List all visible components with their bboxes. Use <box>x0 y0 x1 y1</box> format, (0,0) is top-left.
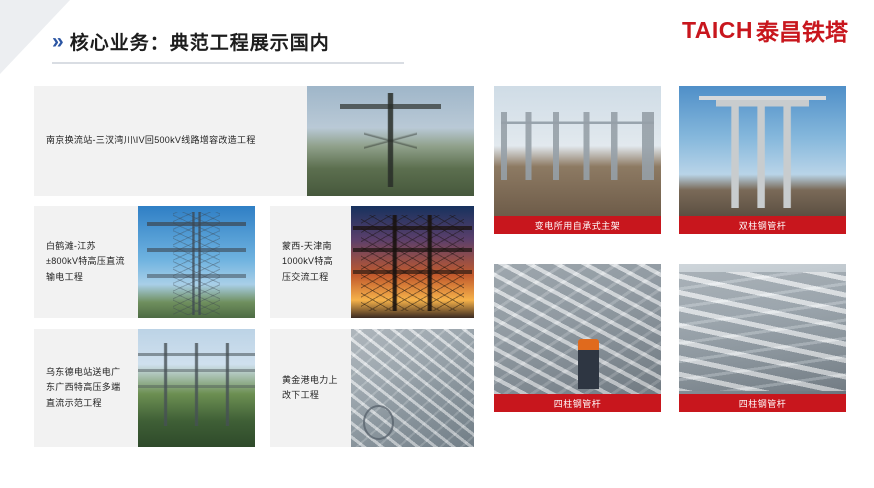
project-caption-box-5: 黄金港电力上改下工程 <box>270 329 351 447</box>
project-caption-3: 蒙西-天津南1000kV特高压交流工程 <box>282 239 339 285</box>
logo-chinese-text: 泰昌铁塔 <box>756 13 848 47</box>
tower-sunset-silhouette-photo <box>351 206 474 318</box>
product-caption-1: 变电所用自承式主架 <box>494 216 661 234</box>
project-caption-4: 乌东德电站送电广东广西特高压多端直流示范工程 <box>46 365 126 411</box>
page-title-row: » 核心业务：典范工程展示国内 <box>52 26 330 56</box>
right-product-gallery: 变电所用自承式主架 双柱钢管杆 四柱钢管杆 四柱钢管杆 <box>494 86 846 452</box>
project-card-5[interactable]: 黄金港电力上改下工程 <box>270 329 474 447</box>
project-card-1[interactable]: 南京换流站-三汊湾川\IV回500kV线路增容改造工程 <box>34 86 474 196</box>
substation-support-frame-photo <box>494 86 661 216</box>
product-card-2[interactable]: 双柱钢管杆 <box>679 86 846 234</box>
project-card-3[interactable]: 蒙西-天津南1000kV特高压交流工程 <box>270 206 474 318</box>
product-caption-4: 四柱钢管杆 <box>679 394 846 412</box>
lattice-tower-blue-sky-photo <box>138 206 255 318</box>
product-card-3[interactable]: 四柱钢管杆 <box>494 264 661 412</box>
project-caption-1: 南京换流站-三汊湾川\IV回500kV线路增容改造工程 <box>46 133 256 148</box>
project-card-4[interactable]: 乌东德电站送电广东广西特高压多端直流示范工程 <box>34 329 255 447</box>
transmission-tower-hillside-photo <box>307 86 474 196</box>
twin-column-steel-pole-photo <box>679 86 846 216</box>
project-caption-5: 黄金港电力上改下工程 <box>282 373 339 404</box>
project-caption-2: 白鹤滩-江苏±800kV特高压直流输电工程 <box>46 239 126 285</box>
project-caption-box-1: 南京换流站-三汊湾川\IV回500kV线路增容改造工程 <box>34 86 307 196</box>
product-card-4[interactable]: 四柱钢管杆 <box>679 264 846 412</box>
product-caption-3: 四柱钢管杆 <box>494 394 661 412</box>
product-caption-2: 双柱钢管杆 <box>679 216 846 234</box>
four-column-steel-pole-worker-photo <box>494 264 661 394</box>
project-card-2[interactable]: 白鹤滩-江苏±800kV特高压直流输电工程 <box>34 206 255 318</box>
page-title: 核心业务：典范工程展示国内 <box>70 28 330 55</box>
project-caption-box-3: 蒙西-天津南1000kV特高压交流工程 <box>270 206 351 318</box>
project-caption-box-2: 白鹤滩-江苏±800kV特高压直流输电工程 <box>34 206 138 318</box>
double-chevron-right-icon: » <box>52 31 60 52</box>
project-caption-box-4: 乌东德电站送电广东广西特高压多端直流示范工程 <box>34 329 138 447</box>
four-column-steel-pole-yard-photo <box>679 264 846 394</box>
logo-latin-text: TAICH <box>682 17 753 44</box>
slide-canvas: » 核心业务：典范工程展示国内 TAICH 泰昌铁塔 南京换流站-三汊湾川\IV… <box>0 0 874 488</box>
product-card-1[interactable]: 变电所用自承式主架 <box>494 86 661 234</box>
title-underline <box>52 62 404 64</box>
underground-steel-structure-photo <box>351 329 474 447</box>
left-project-gallery: 南京换流站-三汊湾川\IV回500kV线路增容改造工程 白鹤滩-江苏±800kV… <box>34 86 474 448</box>
towers-green-hills-photo <box>138 329 255 447</box>
company-logo: TAICH 泰昌铁塔 <box>682 16 848 44</box>
